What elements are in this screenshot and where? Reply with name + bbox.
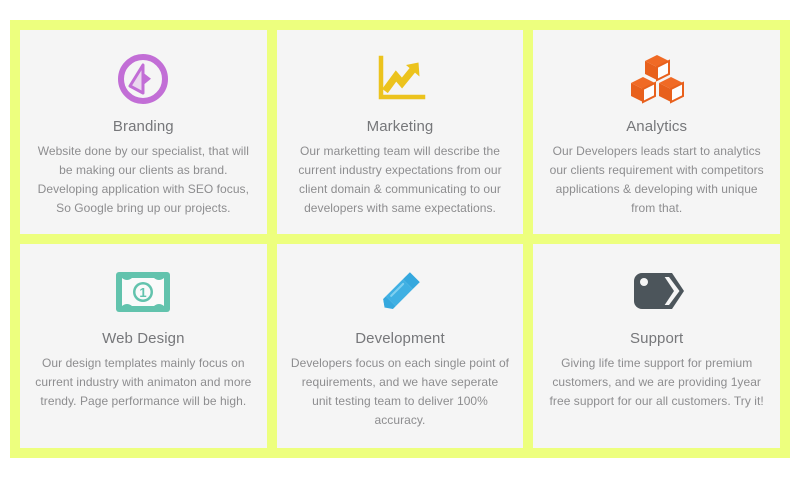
service-description: Website done by our specialist, that wil…: [34, 142, 253, 218]
service-description: Our design templates mainly focus on cur…: [34, 354, 253, 411]
service-card-marketing[interactable]: Marketing Our marketting team will descr…: [277, 30, 524, 234]
service-title: Marketing: [367, 118, 434, 135]
service-card-development[interactable]: Development Developers focus on each sin…: [277, 244, 524, 448]
service-title: Branding: [113, 118, 174, 135]
service-description: Giving life time support for premium cus…: [547, 354, 766, 411]
service-card-branding[interactable]: Branding Website done by our specialist,…: [20, 30, 267, 234]
service-title: Analytics: [626, 118, 687, 135]
service-card-analytics[interactable]: Analytics Our Developers leads start to …: [533, 30, 780, 234]
service-title: Support: [630, 330, 683, 347]
growth-chart-icon: [373, 48, 427, 110]
service-card-support[interactable]: Support Giving life time support for pre…: [533, 244, 780, 448]
tags-icon: [628, 262, 686, 322]
branding-compass-icon: [117, 48, 169, 110]
services-page: Branding Website done by our specialist,…: [0, 0, 800, 480]
pencil-icon: [375, 262, 425, 322]
service-title: Web Design: [102, 330, 184, 347]
service-card-web-design[interactable]: 1 Web Design Our design templates mainly…: [20, 244, 267, 448]
banknote-icon: 1: [115, 262, 171, 322]
service-title: Development: [355, 330, 444, 347]
svg-text:1: 1: [140, 285, 147, 300]
service-description: Our marketting team will describe the cu…: [291, 142, 510, 218]
cubes-icon: [628, 48, 686, 110]
services-grid: Branding Website done by our specialist,…: [10, 20, 790, 458]
service-description: Developers focus on each single point of…: [291, 354, 510, 430]
service-description: Our Developers leads start to analytics …: [547, 142, 766, 218]
